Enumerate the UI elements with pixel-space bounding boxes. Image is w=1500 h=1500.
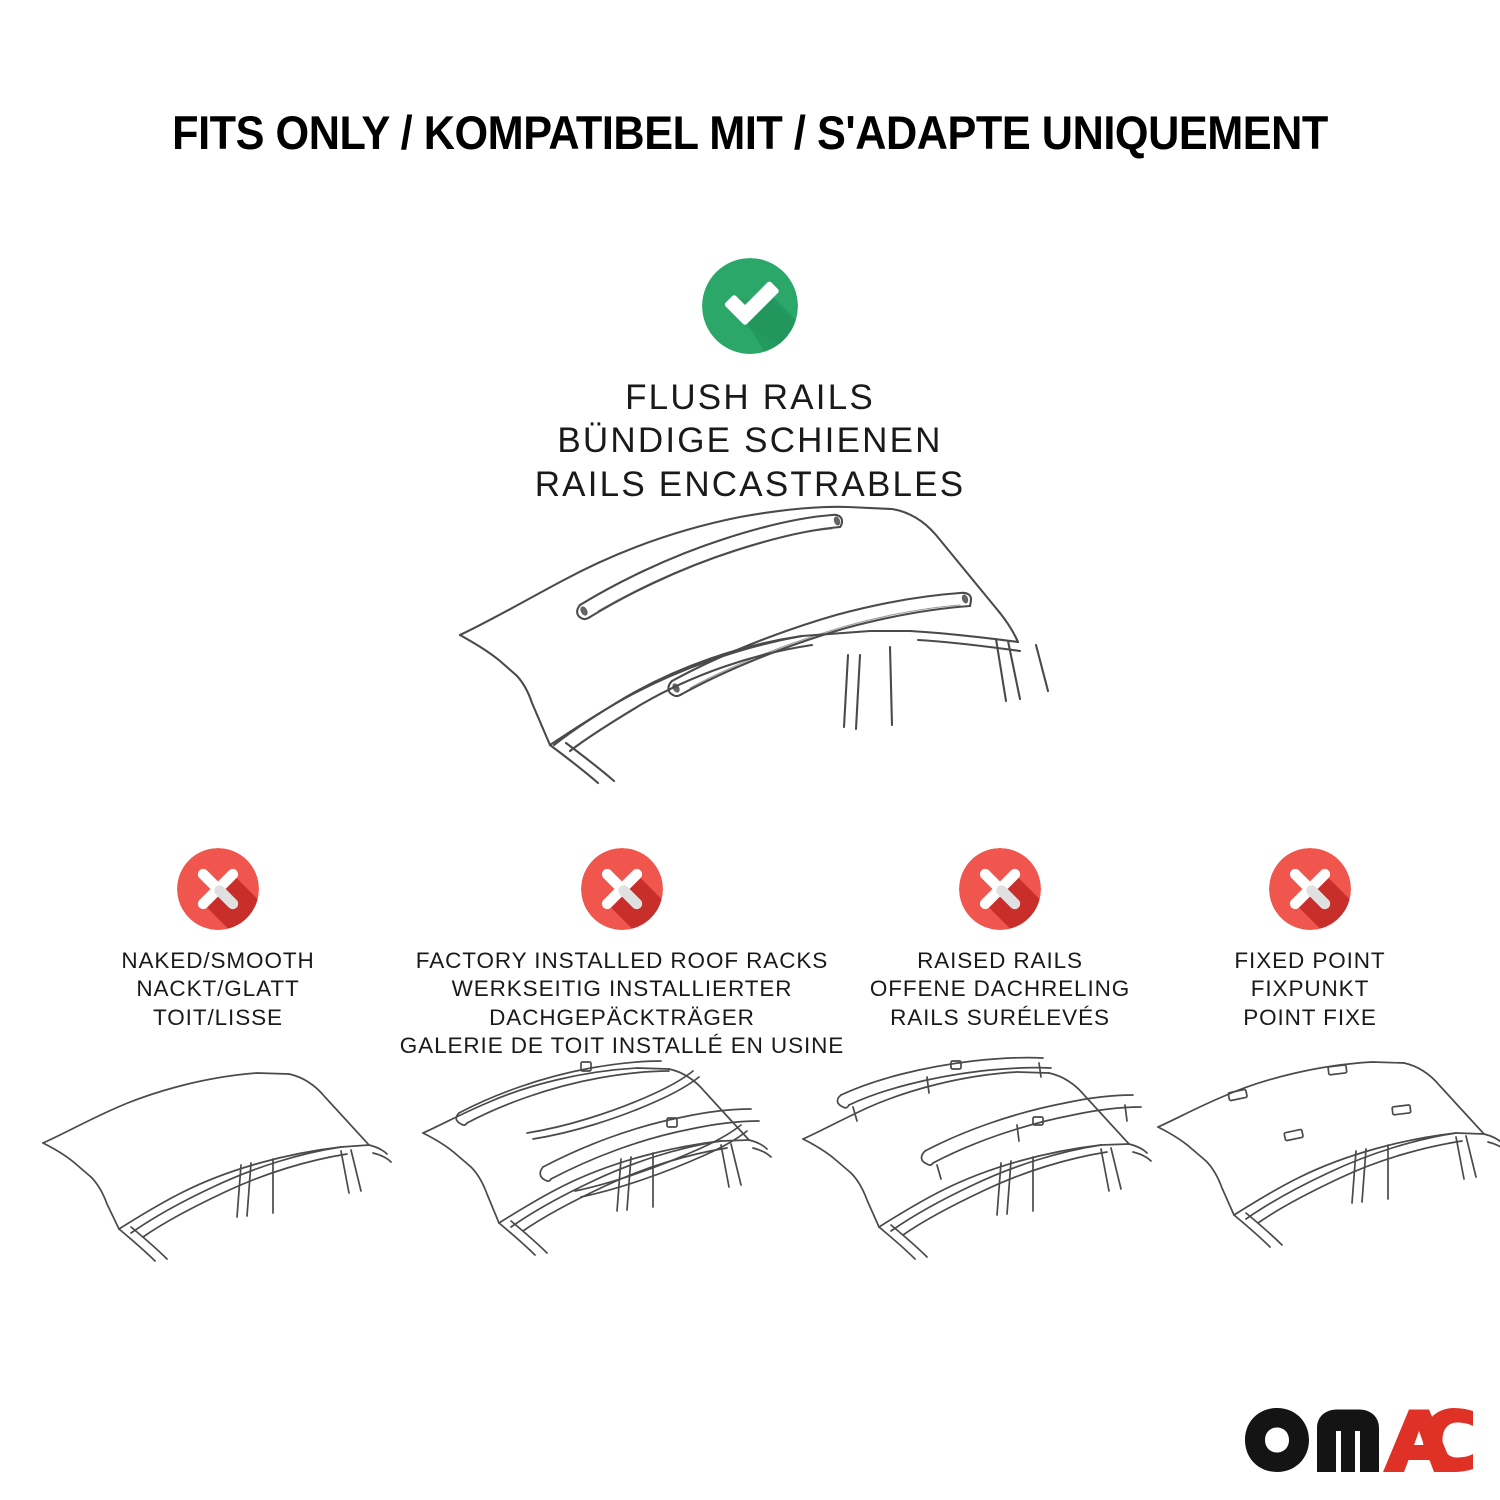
not-compatible-item-raised-rails: RAISED RAILS OFFENE DACHRELING RAILS SUR… [959, 848, 1041, 1032]
caption-line-en: FIXED POINT [1234, 947, 1385, 975]
compatible-label-en: FLUSH RAILS [535, 376, 966, 419]
caption-line-en: RAISED RAILS [870, 947, 1130, 975]
caption-line-fr: RAILS SURÉLEVÉS [870, 1004, 1130, 1032]
not-compatible-caption: FACTORY INSTALLED ROOF RACKS WERKSEITIG … [400, 947, 844, 1060]
caption-line-fr: POINT FIXE [1234, 1004, 1385, 1032]
x-circle-icon [581, 848, 663, 930]
caption-line-de-2: DACHGEPÄCKTRÄGER [400, 1004, 844, 1032]
x-circle-icon [1269, 848, 1351, 930]
page-title: FITS ONLY / KOMPATIBEL MIT / S'ADAPTE UN… [60, 105, 1440, 160]
compatible-label-de: BÜNDIGE SCHIENEN [535, 419, 966, 462]
caption-line-fr: TOIT/LISSE [121, 1004, 314, 1032]
caption-line-de: OFFENE DACHRELING [870, 975, 1130, 1003]
not-compatible-item-factory-roof-racks: FACTORY INSTALLED ROOF RACKS WERKSEITIG … [581, 848, 663, 1060]
not-compatible-item-naked-smooth: NAKED/SMOOTH NACKT/GLATT TOIT/LISSE [177, 848, 259, 1032]
x-circle-icon [177, 848, 259, 930]
caption-line-de-1: WERKSEITIG INSTALLIERTER [400, 975, 844, 1003]
car-roof-with-flush-rails-illustration [440, 495, 1080, 795]
car-roof-with-factory-crossbars-illustration [415, 1055, 795, 1305]
omac-logo [1243, 1404, 1475, 1482]
caption-line-en: NAKED/SMOOTH [121, 947, 314, 975]
car-roof-with-raised-rails-illustration [795, 1055, 1175, 1305]
car-roof-bare-illustration [35, 1055, 415, 1305]
compatible-section: FLUSH RAILS BÜNDIGE SCHIENEN RAILS ENCAS… [0, 258, 1500, 506]
car-roof-with-fixed-points-illustration [1140, 1055, 1500, 1305]
caption-line-de: NACKT/GLATT [121, 975, 314, 1003]
header: FITS ONLY / KOMPATIBEL MIT / S'ADAPTE UN… [0, 105, 1500, 160]
not-compatible-section: NAKED/SMOOTH NACKT/GLATT TOIT/LISSE [0, 848, 1500, 1058]
x-circle-icon [959, 848, 1041, 930]
caption-line-de: FIXPUNKT [1234, 975, 1385, 1003]
not-compatible-caption: RAISED RAILS OFFENE DACHRELING RAILS SUR… [870, 947, 1130, 1032]
not-compatible-item-fixed-point: FIXED POINT FIXPUNKT POINT FIXE [1269, 848, 1351, 1032]
check-circle-icon [702, 258, 798, 354]
compatible-caption: FLUSH RAILS BÜNDIGE SCHIENEN RAILS ENCAS… [535, 376, 966, 506]
caption-line-en: FACTORY INSTALLED ROOF RACKS [400, 947, 844, 975]
not-compatible-caption: NAKED/SMOOTH NACKT/GLATT TOIT/LISSE [121, 947, 314, 1032]
not-compatible-caption: FIXED POINT FIXPUNKT POINT FIXE [1234, 947, 1385, 1032]
roof-type-illustrations [0, 1055, 1500, 1305]
